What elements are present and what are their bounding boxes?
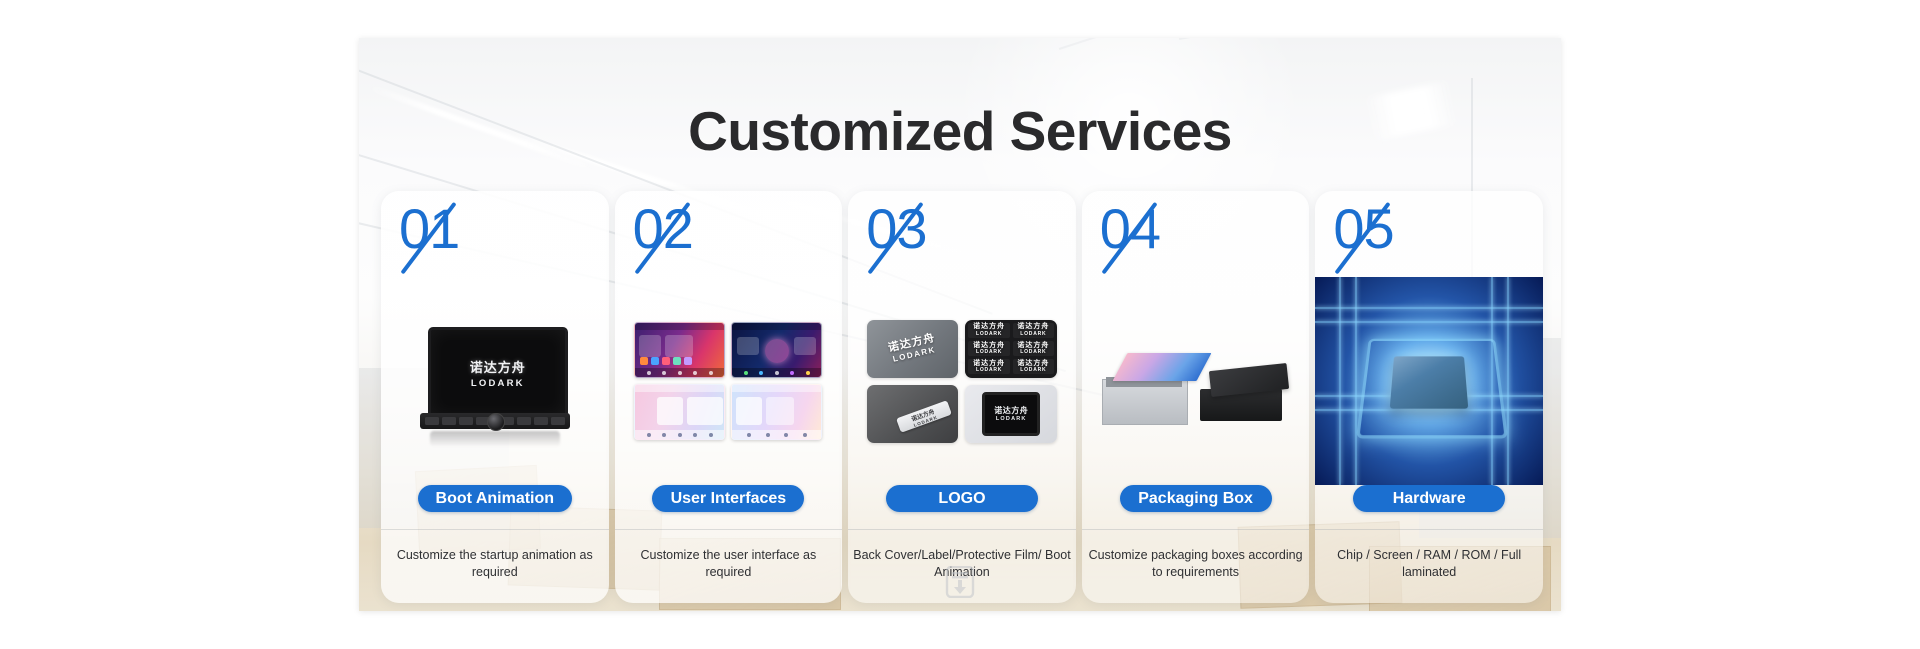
card-label-badge[interactable]: LOGO	[886, 485, 1038, 512]
ui-dock-dot	[759, 371, 763, 375]
label-cell: 诺达方舟LODARK	[1013, 323, 1054, 338]
label-sheet-grid: 诺达方舟LODARK 诺达方舟LODARK 诺达方舟LODARK 诺达方舟LOD…	[965, 320, 1057, 378]
circuit-board-photo	[1315, 277, 1543, 485]
ui-dock-dot	[662, 433, 666, 437]
brand-name-en: LODARK	[973, 350, 1005, 355]
hu-button	[442, 417, 456, 425]
ui-status-bar	[732, 385, 821, 392]
brand-name-cn: 诺达方舟	[994, 405, 1028, 416]
label-cell: 诺达方舟LODARK	[968, 359, 1009, 374]
label-cell: 诺达方舟LODARK	[968, 341, 1009, 356]
ui-dock-dot	[766, 433, 770, 437]
packaging-boxes-image	[1088, 277, 1304, 485]
ui-dock-bar	[732, 368, 821, 377]
download-icon[interactable]	[945, 566, 975, 598]
ui-app-icon	[662, 357, 670, 365]
chip-circuit-image	[1315, 277, 1543, 485]
card-header: 03	[848, 191, 1076, 277]
brand-mark: 诺达方舟LODARK	[973, 323, 1005, 337]
ui-dock-dot	[693, 371, 697, 375]
right-buttons	[500, 417, 565, 425]
card-divider	[381, 529, 609, 530]
ui-dock-dot	[647, 371, 651, 375]
circuit-trace	[1339, 277, 1341, 485]
label-cell: 诺达方舟LODARK	[1013, 359, 1054, 374]
ui-status-bar	[635, 385, 724, 392]
ui-dock-dot	[678, 371, 682, 375]
processor-chip	[1390, 356, 1469, 408]
ceiling-seam-4	[1059, 38, 1554, 49]
ui-widget-block	[639, 335, 661, 357]
label-cell: 诺达方舟LODARK	[1013, 341, 1054, 356]
brand-name-en: LODARK	[973, 332, 1005, 337]
brand-name-en: LODARK	[1017, 332, 1049, 337]
card-label-badge[interactable]: Packaging Box	[1120, 485, 1272, 512]
ui-app-icon	[640, 357, 648, 365]
ui-widget-block	[766, 397, 794, 425]
card-description: Customize packaging boxes according to r…	[1086, 547, 1304, 581]
ui-dock-dot	[662, 371, 666, 375]
ui-widget-block	[687, 397, 723, 425]
card-divider	[1082, 529, 1310, 530]
logo-protective-film-sample: 诺达方舟 LODARK	[867, 385, 959, 443]
logo-sticker: 诺达方舟 LODARK	[896, 400, 952, 433]
ui-app-icon	[651, 357, 659, 365]
logo-label-sheet-sample: 诺达方舟LODARK 诺达方舟LODARK 诺达方舟LODARK 诺达方舟LOD…	[965, 320, 1057, 378]
logo-boot-animation-sample: 诺达方舟 LODARK	[965, 385, 1057, 443]
ui-dock-dot	[647, 433, 651, 437]
ui-dock-bar	[635, 430, 724, 439]
card-divider	[848, 529, 1076, 530]
brand-mark: 诺达方舟LODARK	[1017, 360, 1049, 374]
card-description: Chip / Screen / RAM / ROM / Full laminat…	[1320, 547, 1538, 581]
card-label-badge[interactable]: Hardware	[1353, 485, 1505, 512]
ui-status-bar	[732, 323, 821, 330]
hu-button	[534, 417, 548, 425]
brand-mark: 诺达方舟LODARK	[1017, 342, 1049, 356]
ui-theme-tile	[634, 322, 725, 378]
circuit-trace	[1355, 277, 1357, 485]
ui-dock-dot	[784, 433, 788, 437]
card-header: 04	[1082, 191, 1310, 277]
ui-dock-dot	[803, 433, 807, 437]
brand-mark: 诺达方舟LODARK	[973, 342, 1005, 356]
hu-button	[459, 417, 473, 425]
card-divider	[615, 529, 843, 530]
ui-dock-dot	[678, 433, 682, 437]
ui-theme-tile	[731, 384, 822, 440]
head-unit-device: 诺达方舟 LODARK	[420, 327, 570, 435]
device-reflection	[430, 431, 560, 447]
brand-name-en: LODARK	[1017, 368, 1049, 373]
customized-services-banner: Customized Services 01 诺达方舟 LODARK	[359, 38, 1561, 611]
ceiling-seam-5	[1179, 38, 1561, 39]
logo-sample-grid: 诺达方舟 LODARK 诺达方舟LODARK 诺达方舟LODARK 诺达方舟LO…	[867, 320, 1057, 443]
ui-dock-dot	[806, 371, 810, 375]
ui-dock-dot	[709, 371, 713, 375]
card-description: Customize the user interface as required	[619, 547, 837, 581]
brand-name-cn: 诺达方舟	[973, 323, 1005, 330]
card-description: Customize the startup animation as requi…	[386, 547, 604, 581]
ui-dock-bar	[732, 430, 821, 439]
page-title: Customized Services	[359, 100, 1561, 162]
gradient-box-lid	[1112, 353, 1211, 381]
hu-button	[517, 417, 531, 425]
brand-name-en: LODARK	[471, 378, 525, 389]
head-unit-screen: 诺达方舟 LODARK	[428, 327, 568, 419]
ui-icon-row	[640, 357, 692, 365]
card-label-badge[interactable]: Boot Animation	[418, 485, 573, 512]
card-header: 01	[381, 191, 609, 277]
ui-widget-block	[794, 337, 816, 355]
screenshot-root: Customized Services 01 诺达方舟 LODARK	[0, 0, 1920, 649]
hu-button	[425, 417, 439, 425]
ui-app-icon	[684, 357, 692, 365]
ui-dock-dot	[744, 371, 748, 375]
ui-screenshots-grid-image	[621, 277, 837, 485]
services-card-row: 01 诺达方舟 LODARK	[381, 191, 1543, 611]
card-footer: Boot Animation Customize the startup ani…	[381, 485, 609, 603]
brand-name-cn: 诺达方舟	[470, 357, 526, 376]
card-footer: User Interfaces Customize the user inter…	[615, 485, 843, 603]
ui-dock-dot	[693, 433, 697, 437]
ui-dock-bar	[635, 368, 724, 377]
card-divider	[1315, 529, 1543, 530]
ui-status-bar	[635, 323, 724, 330]
card-header: 05	[1315, 191, 1543, 277]
logo-back-cover-sample: 诺达方舟 LODARK	[867, 320, 959, 378]
ui-theme-tile	[731, 322, 822, 378]
card-label-badge[interactable]: User Interfaces	[652, 485, 804, 512]
brand-name-cn: 诺达方舟	[1017, 323, 1049, 330]
logo-branding-grid-image: 诺达方舟 LODARK 诺达方舟LODARK 诺达方舟LODARK 诺达方舟LO…	[854, 277, 1070, 485]
card-footer: Packaging Box Customize packaging boxes …	[1082, 485, 1310, 603]
brand-mark: 诺达方舟LODARK	[973, 360, 1005, 374]
ui-dock-dot	[790, 371, 794, 375]
packaging-box-group	[1096, 327, 1296, 435]
ui-dock-dot	[709, 433, 713, 437]
ui-center-dial	[765, 339, 789, 363]
volume-knob-icon	[487, 413, 505, 431]
brand-mark: 诺达方舟 LODARK	[887, 333, 938, 364]
ui-widget-block	[737, 337, 759, 355]
brand-name-cn: 诺达方舟	[1017, 342, 1049, 349]
ui-widget-block	[665, 335, 693, 357]
ui-app-icon	[673, 357, 681, 365]
brand-name-en: LODARK	[973, 368, 1005, 373]
brand-name-en: LODARK	[996, 416, 1027, 422]
label-cell: 诺达方舟LODARK	[968, 323, 1009, 338]
mini-device-screen: 诺达方舟 LODARK	[982, 392, 1040, 436]
service-card-hardware[interactable]: 05	[1315, 191, 1543, 603]
ui-widget-block	[657, 397, 683, 425]
brand-name-en: LODARK	[1017, 350, 1049, 355]
service-card-logo[interactable]: 03 诺达方舟 LODARK 诺达方舟LODARK	[848, 191, 1076, 603]
hu-button	[551, 417, 565, 425]
service-card-user-interfaces[interactable]: 02	[615, 191, 843, 603]
ui-dock-dot	[747, 433, 751, 437]
circuit-trace	[1507, 277, 1509, 485]
brand-mark: 诺达方舟 LODARK	[910, 405, 939, 427]
ui-theme-grid	[634, 322, 822, 440]
left-buttons	[425, 417, 490, 425]
ui-theme-tile	[634, 384, 725, 440]
service-card-boot-animation[interactable]: 01 诺达方舟 LODARK	[381, 191, 609, 603]
brand-name-cn: 诺达方舟	[973, 342, 1005, 349]
brand-mark: 诺达方舟LODARK	[1017, 323, 1049, 337]
card-footer: Hardware Chip / Screen / RAM / ROM / Ful…	[1315, 485, 1543, 603]
car-head-unit-image: 诺达方舟 LODARK	[387, 277, 603, 485]
ui-dock-dot	[775, 371, 779, 375]
card-header: 02	[615, 191, 843, 277]
ui-widget-block	[736, 397, 762, 425]
service-card-packaging-box[interactable]: 04 Packaging Box Customize packagin	[1082, 191, 1310, 603]
